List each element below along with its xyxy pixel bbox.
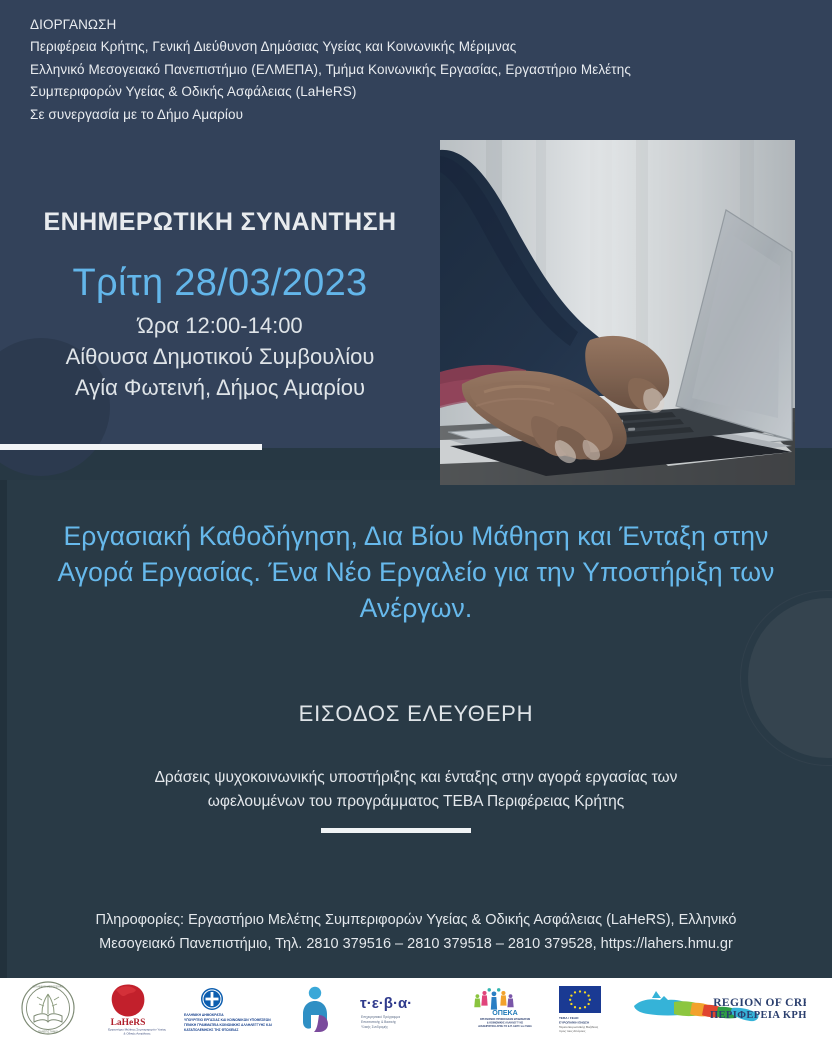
left-edge-strip [0, 480, 7, 978]
svg-text:ΟΠΕΚΑ: ΟΠΕΚΑ [492, 1009, 518, 1017]
lahers-logo: LaHeRS Εργαστήριο Μελέτης Συμπεριφορών Υ… [96, 978, 178, 1038]
region-of-crete-logo: REGION OF CRETE ΠΕΡΙΦΕΡΕΙΑ ΚΡΗΤΗΣ [628, 978, 808, 1038]
elmepa-seal-logo: ΕΛΛΗΝΙΚΟ ΜΕΣΟΓΕΙΑΚΟ ΠΑΝΕΠΙΣΤΗΜΙΟ [0, 978, 96, 1038]
opeka-logo: ΟΠΕΚΑ ΟΡΓΑΝΙΣΜΟΣ ΠΡΟΝΟΙΑΚΩΝ ΕΠΙΔΟΜΑΤΩΝ &… [464, 978, 546, 1038]
free-entry-label: ΕΙΣΟΔΟΣ ΕΛΕΥΘΕΡΗ [0, 701, 832, 727]
organiser-line-2: Ελληνικό Μεσογειακό Πανεπιστήμιο (ΕΛΜΕΠΑ… [30, 59, 790, 81]
poster-canvas: ΔΙΟΡΓΑΝΩΣΗ Περιφέρεια Κρήτης, Γενική Διε… [0, 0, 832, 1038]
teba-figure-icon [278, 978, 356, 1038]
svg-text:LaHeRS: LaHeRS [111, 1018, 146, 1028]
svg-text:& ΚΟΙΝΩΝΙΚΗΣ ΑΛΛΗΛΕΓΓΥΗΣ: & ΚΟΙΝΩΝΙΚΗΣ ΑΛΛΗΛΕΓΓΥΗΣ [487, 1021, 524, 1024]
photo-person-typing-on-laptop [440, 140, 795, 485]
svg-text:Υλικής Συνδρομής: Υλικής Συνδρομής [361, 1025, 388, 1029]
svg-text:ΟΡΓΑΝΙΣΜΟΣ ΠΡΟΝΟΙΑΚΩΝ ΕΠΙΔΟΜΑΤ: ΟΡΓΑΝΙΣΜΟΣ ΠΡΟΝΟΙΑΚΩΝ ΕΠΙΔΟΜΑΤΩΝ [480, 1018, 531, 1021]
european-union-flag-logo: ΤΕΒΑ / FEAD ΕΥΡΩΠΑΪΚΗ ΕΝΩΣΗ Ταμείο Ευρωπ… [546, 978, 628, 1038]
program-subtitle-line-2: ωφελουμένων του προγράμματος ΤΕΒΑ Περιφέ… [60, 790, 772, 814]
footer-line-1: Πληροφορίες: Εργαστήριο Μελέτης Συμπεριφ… [55, 908, 777, 932]
program-subtitle-line-1: Δράσεις ψυχοκοινωνικής υποστήριξης και έ… [60, 766, 772, 790]
organiser-line-1: Περιφέρεια Κρήτης, Γενική Διεύθυνση Δημό… [30, 36, 790, 58]
sponsor-logo-bar: ΕΛΛΗΝΙΚΟ ΜΕΣΟΓΕΙΑΚΟ ΠΑΝΕΠΙΣΤΗΜΙΟ LaHeRS … [0, 978, 832, 1038]
organiser-line-3: Συμπεριφορών Υγείας & Οδικής Ασφάλειας (… [30, 81, 790, 103]
svg-text:ΓΕΝΙΚΗ ΓΡΑΜΜΑΤΕΙΑ ΚΟΙΝΩΝΙΚΗΣ Α: ΓΕΝΙΚΗ ΓΡΑΜΜΑΤΕΙΑ ΚΟΙΝΩΝΙΚΗΣ ΑΛΛΗΛΕΓΓΥΗΣ… [184, 1023, 272, 1027]
svg-text:ΠΕΡΙΦΕΡΕΙΑ ΚΡΗΤΗΣ: ΠΕΡΙΦΕΡΕΙΑ ΚΡΗΤΗΣ [710, 1010, 806, 1021]
svg-text:προς τους Απόρους: προς τους Απόρους [559, 1029, 586, 1033]
svg-text:ΕΛΛΗΝΙΚΟ ΜΕΣΟΓΕΙΑΚΟ: ΕΛΛΗΝΙΚΟ ΜΕΣΟΓΕΙΑΚΟ [33, 984, 64, 988]
divider-rule [321, 828, 471, 833]
svg-text:ΚΑΤΑΠΟΛΕΜΗΣΗΣ ΤΗΣ ΦΤΩΧΕΙΑΣ: ΚΑΤΑΠΟΛΕΜΗΣΗΣ ΤΗΣ ΦΤΩΧΕΙΑΣ [184, 1028, 238, 1032]
svg-text:Επισιτιστικής & Βασικής: Επισιτιστικής & Βασικής [361, 1020, 397, 1024]
svg-text:ΔΙΑΧΕΙΡΙΣΤΙΚΗ ΑΡΧΗ ΤΟ Ε.Π. ΕΒΥ: ΔΙΑΧΕΙΡΙΣΤΙΚΗ ΑΡΧΗ ΤΟ Ε.Π. ΕΒΥΣ του ΤΕΒΑ [478, 1025, 532, 1028]
footer-contact-info: Πληροφορίες: Εργαστήριο Μελέτης Συμπεριφ… [55, 908, 777, 956]
event-details: Ώρα 12:00-14:00 Αίθουσα Δημοτικού Συμβου… [0, 310, 440, 403]
event-venue: Αίθουσα Δημοτικού Συμβουλίου [0, 341, 440, 372]
event-title: ΕΝΗΜΕΡΩΤΙΚΗ ΣΥΝΑΝΤΗΣΗ [0, 208, 440, 237]
hellenic-republic-ministry-logo: ΕΛΛΗΝΙΚΗ ΔΗΜΟΚΡΑΤΙΑ ΥΠΟΥΡΓΕΙΟ ΕΡΓΑΣΙΑΣ Κ… [178, 978, 278, 1038]
organiser-label: ΔΙΟΡΓΑΝΩΣΗ [30, 14, 790, 36]
event-location: Αγία Φωτεινή, Δήμος Αμαρίου [0, 372, 440, 403]
organiser-line-4: Σε συνεργασία με το Δήμο Αμαρίου [30, 104, 790, 126]
main-headline: Εργασιακή Καθοδήγηση, Δια Βίου Μάθηση κα… [40, 518, 792, 626]
svg-text:ΠΑΝΕΠΙΣΤΗΜΙΟ: ΠΑΝΕΠΙΣΤΗΜΙΟ [38, 1030, 58, 1034]
svg-text:ΤΕΒΑ / FEAD: ΤΕΒΑ / FEAD [559, 1016, 579, 1020]
svg-text:τ·ε·β·α·: τ·ε·β·α· [360, 995, 412, 1012]
teba-wordmark-logo: τ·ε·β·α· Επιχειρησιακό Πρόγραμμα Επισιτι… [356, 978, 464, 1038]
program-subtitle: Δράσεις ψυχοκοινωνικής υποστήριξης και έ… [60, 766, 772, 814]
svg-text:Επιχειρησιακό Πρόγραμμα: Επιχειρησιακό Πρόγραμμα [361, 1015, 400, 1019]
footer-line-2: Μεσογειακό Πανεπιστήμιο, Τηλ. 2810 37951… [55, 932, 777, 956]
event-time: Ώρα 12:00-14:00 [0, 310, 440, 341]
svg-text:ΕΥΡΩΠΑΪΚΗ ΕΝΩΣΗ: ΕΥΡΩΠΑΪΚΗ ΕΝΩΣΗ [559, 1021, 590, 1025]
organiser-block: ΔΙΟΡΓΑΝΩΣΗ Περιφέρεια Κρήτης, Γενική Διε… [30, 14, 790, 126]
svg-text:ΕΛΛΗΝΙΚΗ ΔΗΜΟΚΡΑΤΙΑ: ΕΛΛΗΝΙΚΗ ΔΗΜΟΚΡΑΤΙΑ [184, 1013, 224, 1017]
event-date: Τρίτη 28/03/2023 [0, 262, 440, 305]
svg-text:ΥΠΟΥΡΓΕΙΟ ΕΡΓΑΣΙΑΣ ΚΑΙ ΚΟΙΝΩΝΙ: ΥΠΟΥΡΓΕΙΟ ΕΡΓΑΣΙΑΣ ΚΑΙ ΚΟΙΝΩΝΙΚΩΝ ΥΠΟΘΕΣ… [184, 1018, 271, 1022]
accent-bar [0, 444, 262, 450]
svg-text:REGION OF CRETE: REGION OF CRETE [713, 997, 806, 1009]
svg-text:& Οδικής Ασφάλειας: & Οδικής Ασφάλειας [123, 1032, 151, 1036]
